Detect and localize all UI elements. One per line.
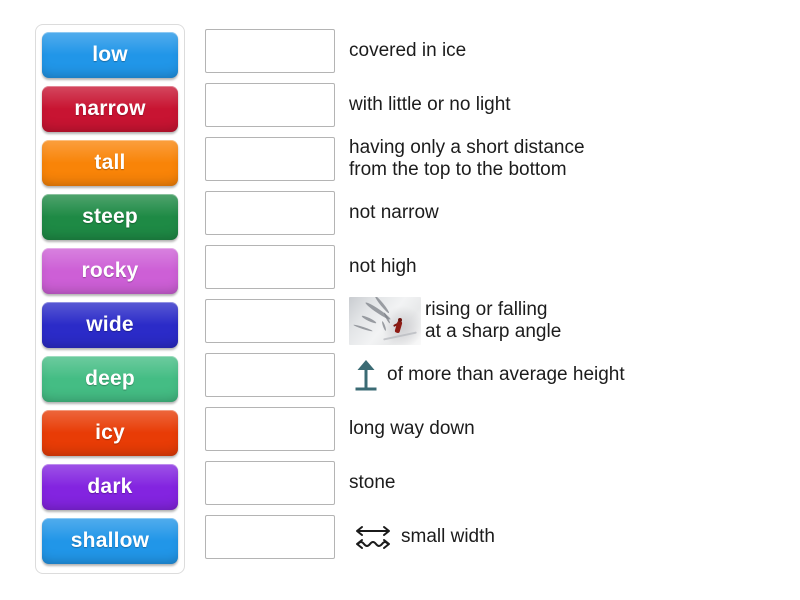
word-tile-label: deep [85, 367, 135, 391]
slope-ridge [353, 324, 373, 332]
skier-head [398, 318, 402, 322]
word-tiles-panel: low narrow tall steep rocky wide deep ic… [35, 24, 185, 574]
drop-zone[interactable] [205, 353, 335, 397]
match-row: small width [205, 514, 785, 560]
match-row: long way down [205, 406, 785, 452]
word-tile-label: wide [86, 313, 133, 337]
definition-text: of more than average height [387, 364, 625, 386]
definition-text: not high [349, 256, 417, 278]
slope-ridge [381, 321, 386, 331]
match-row: with little or no light [205, 82, 785, 128]
definition-text: covered in ice [349, 40, 466, 62]
ski-trail [383, 331, 417, 340]
match-row: of more than average height [205, 352, 785, 398]
drop-zone[interactable] [205, 461, 335, 505]
ski-slope-image [349, 297, 421, 345]
match-row: stone [205, 460, 785, 506]
word-tile[interactable]: wide [42, 302, 178, 348]
word-tile-label: icy [95, 421, 125, 445]
definition-rows-panel: covered in ice with little or no light h… [205, 28, 785, 568]
drop-zone[interactable] [205, 299, 335, 343]
definition-text: small width [401, 526, 495, 548]
match-row: rising or falling at a sharp angle [205, 298, 785, 344]
definition-text: long way down [349, 418, 475, 440]
drop-zone[interactable] [205, 137, 335, 181]
definition-text: stone [349, 472, 395, 494]
word-tile-label: steep [82, 205, 138, 229]
word-tile-label: tall [94, 151, 125, 175]
word-tile[interactable]: low [42, 32, 178, 78]
ski-slope-photo [349, 297, 421, 345]
width-icon [349, 521, 397, 553]
drop-zone[interactable] [205, 407, 335, 451]
definition-text: not narrow [349, 202, 439, 224]
word-tile-label: shallow [71, 529, 149, 553]
word-tile-label: dark [87, 475, 132, 499]
match-row: covered in ice [205, 28, 785, 74]
drop-zone[interactable] [205, 191, 335, 235]
word-tile[interactable]: tall [42, 140, 178, 186]
word-tile[interactable]: deep [42, 356, 178, 402]
word-tile[interactable]: shallow [42, 518, 178, 564]
word-tile-label: low [92, 43, 128, 67]
slope-ridge [361, 315, 377, 325]
definition-text: having only a short distance from the to… [349, 137, 585, 181]
match-row: not narrow [205, 190, 785, 236]
drop-zone[interactable] [205, 515, 335, 559]
word-tile[interactable]: rocky [42, 248, 178, 294]
word-tile-label: rocky [81, 259, 138, 283]
word-tile-label: narrow [74, 97, 145, 121]
definition-text: with little or no light [349, 94, 511, 116]
match-row: not high [205, 244, 785, 290]
word-tile[interactable]: steep [42, 194, 178, 240]
word-tile[interactable]: dark [42, 464, 178, 510]
drop-zone[interactable] [205, 83, 335, 127]
drop-zone[interactable] [205, 29, 335, 73]
word-tile[interactable]: icy [42, 410, 178, 456]
definition-text: rising or falling at a sharp angle [425, 299, 561, 343]
drop-zone[interactable] [205, 245, 335, 289]
match-row: having only a short distance from the to… [205, 136, 785, 182]
arrow-up-icon [349, 358, 383, 392]
word-tile[interactable]: narrow [42, 86, 178, 132]
